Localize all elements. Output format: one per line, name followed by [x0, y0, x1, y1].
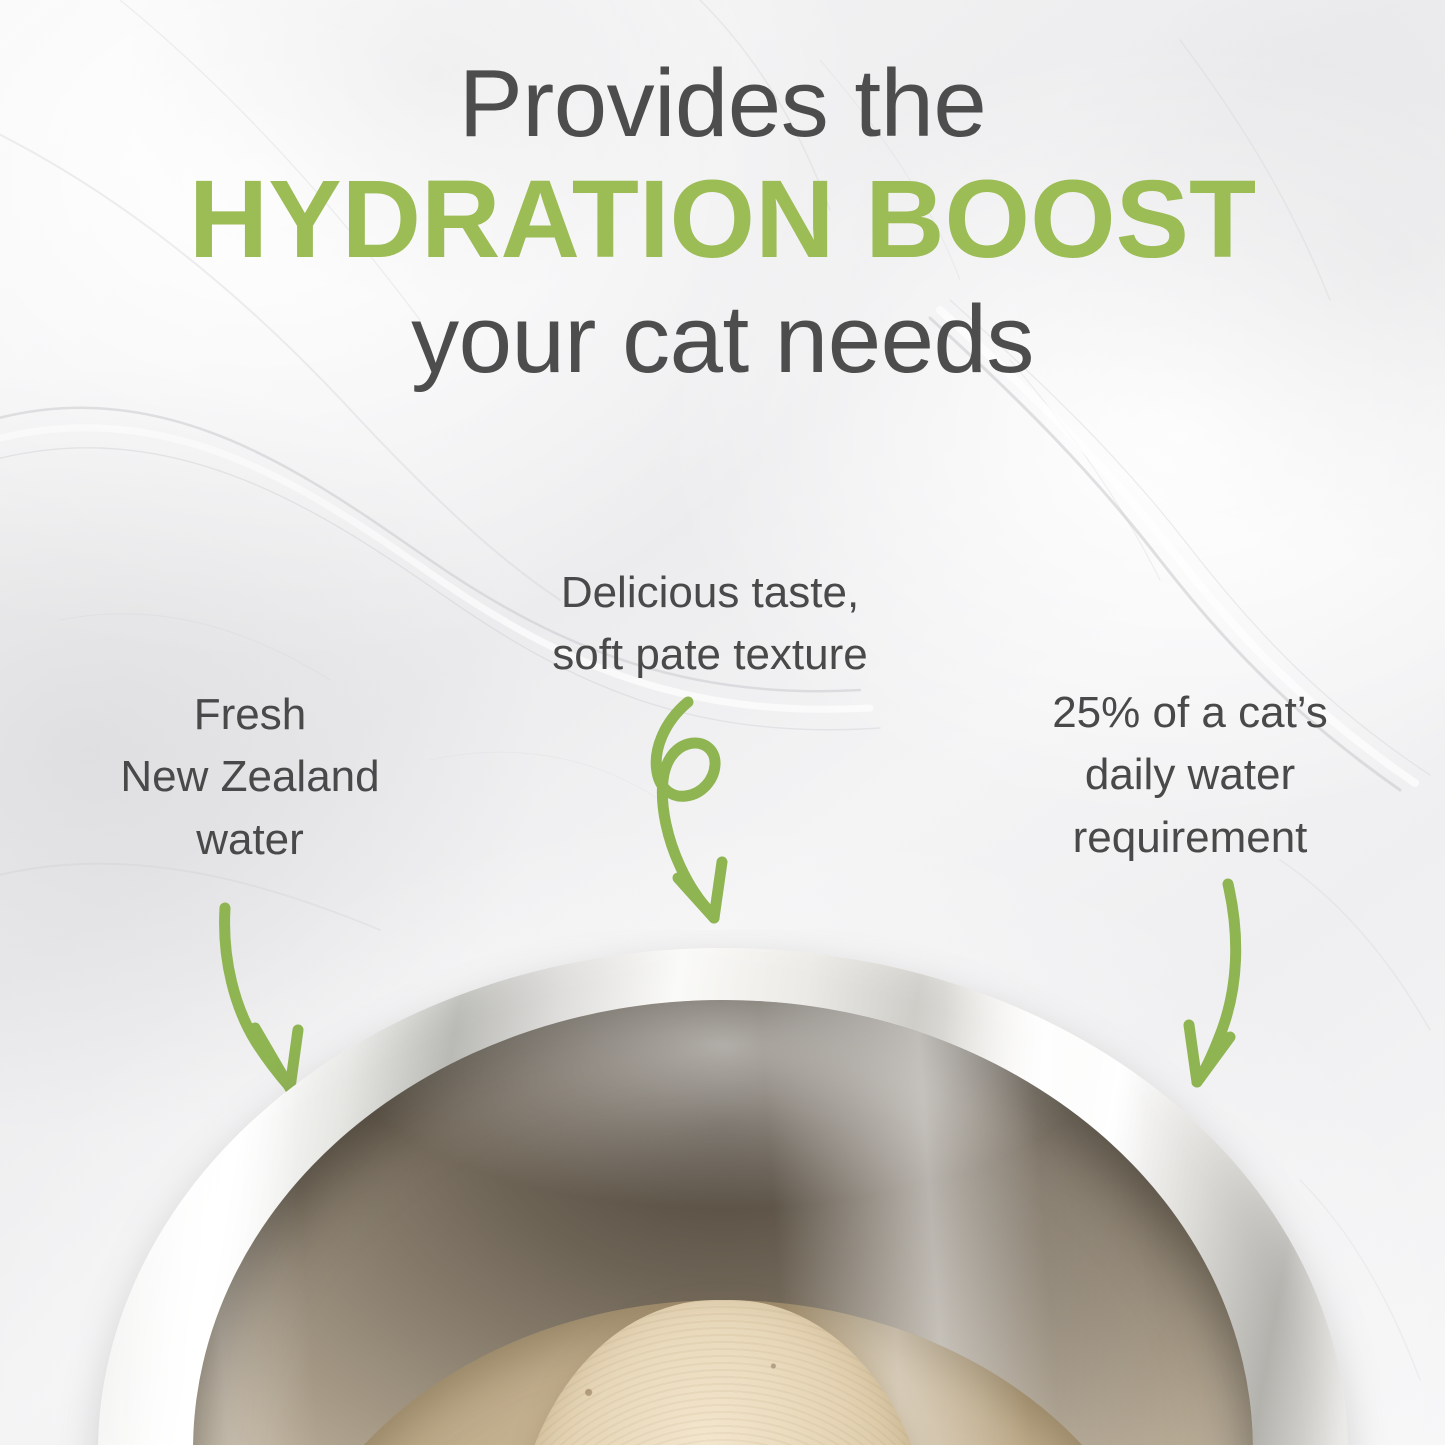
callout-taste-texture-text: Delicious taste, soft pate texture: [470, 562, 950, 687]
headline-line-3: your cat needs: [0, 292, 1445, 388]
callout-daily-water-text: 25% of a cat’s daily water requirement: [1000, 682, 1380, 869]
pate-mound: [513, 1300, 933, 1445]
headline-line-1: Provides the: [0, 56, 1445, 152]
infographic-canvas: Provides the HYDRATION BOOST your cat ne…: [0, 0, 1445, 1445]
pate-texture: [513, 1300, 933, 1445]
headline-block: Provides the HYDRATION BOOST your cat ne…: [0, 56, 1445, 388]
product-photo-bowl: [0, 930, 1445, 1445]
headline-line-2-accent: HYDRATION BOOST: [0, 162, 1445, 278]
callout-fresh-water-text: Fresh New Zealand water: [60, 684, 440, 871]
steel-bowl: [98, 948, 1348, 1445]
